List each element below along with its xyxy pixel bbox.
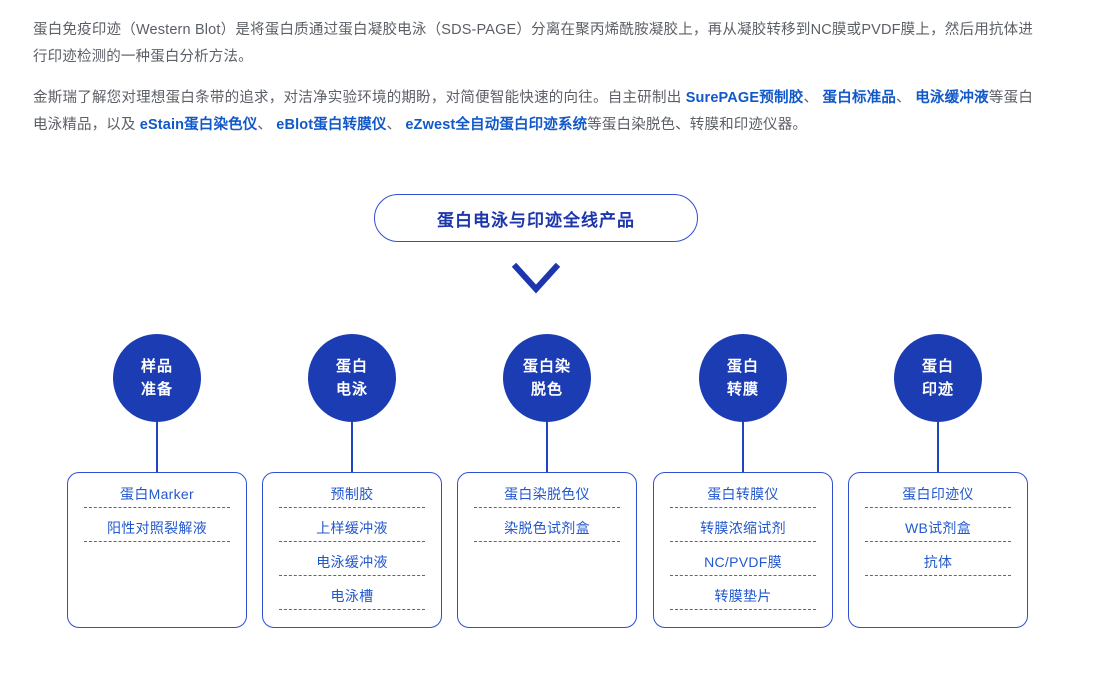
hero-pill-button[interactable]: 蛋白电泳与印迹全线产品 [374,194,698,242]
product-item[interactable]: 蛋白染脱色仪 [474,481,620,508]
stage-product-panel: 蛋白转膜仪转膜浓缩试剂NC/PVDF膜转膜垫片 [653,472,833,628]
chevron-down-icon [512,262,560,294]
product-item[interactable]: 染脱色试剂盒 [474,515,620,542]
intro-text-run: 、 [803,90,822,106]
stage-product-panel: 蛋白Marker阳性对照裂解液 [67,472,247,628]
stage-circle[interactable]: 蛋白电泳 [308,334,396,422]
stage-circle-line1: 蛋白染 [523,355,571,378]
product-item[interactable]: 蛋白印迹仪 [865,481,1011,508]
stage-circle-line2: 印迹 [922,378,954,401]
product-item[interactable]: 预制胶 [279,481,425,508]
product-item[interactable]: 电泳缓冲液 [279,549,425,576]
stage-circle[interactable]: 蛋白染脱色 [503,334,591,422]
product-item[interactable]: 转膜浓缩试剂 [670,515,816,542]
product-item[interactable]: 阳性对照裂解液 [84,515,230,542]
stage-product-panel: 蛋白染脱色仪染脱色试剂盒 [457,472,637,628]
stage-circle-line2: 转膜 [727,378,759,401]
stage-circle-line1: 蛋白 [336,355,368,378]
stage-product-panel: 蛋白印迹仪WB试剂盒抗体 [848,472,1028,628]
product-item[interactable]: 蛋白Marker [84,481,230,508]
product-item[interactable]: 电泳槽 [279,583,425,610]
product-item[interactable]: 抗体 [865,549,1011,576]
stage-circle-line1: 样品 [141,355,173,378]
product-item[interactable]: WB试剂盒 [865,515,1011,542]
intro-paragraph-2: 金斯瑞了解您对理想蛋白条带的追求，对洁净实验环境的期盼，对简便智能快速的向往。自… [33,85,1033,139]
stage-circle-line1: 蛋白 [727,355,759,378]
stage-circle[interactable]: 蛋白转膜 [699,334,787,422]
product-link[interactable]: SurePAGE预制胶 [686,90,804,106]
intro-paragraph-1: 蛋白免疫印迹（Western Blot）是将蛋白质通过蛋白凝胶电泳（SDS-PA… [33,17,1033,71]
product-item[interactable]: NC/PVDF膜 [670,549,816,576]
product-item[interactable]: 转膜垫片 [670,583,816,610]
stage-circle-line2: 准备 [141,378,173,401]
stage-circle[interactable]: 样品准备 [113,334,201,422]
stage-product-panel: 预制胶上样缓冲液电泳缓冲液电泳槽 [262,472,442,628]
stage-circle-line2: 脱色 [531,378,563,401]
intro-text-run: 等蛋白染脱色、转膜和印迹仪器。 [587,117,807,133]
product-item[interactable]: 上样缓冲液 [279,515,425,542]
stage-circle[interactable]: 蛋白印迹 [894,334,982,422]
intro-section: 蛋白免疫印迹（Western Blot）是将蛋白质通过蛋白凝胶电泳（SDS-PA… [33,17,1033,139]
intro-text-run: 金斯瑞了解您对理想蛋白条带的追求，对洁净实验环境的期盼，对简便智能快速的向往。自… [33,90,686,106]
stage-circle-line2: 电泳 [336,378,368,401]
intro-text-run: 、 [896,90,915,106]
product-link[interactable]: eZwest全自动蛋白印迹系统 [405,117,587,133]
product-link[interactable]: eStain蛋白染色仪 [140,117,258,133]
product-item[interactable]: 蛋白转膜仪 [670,481,816,508]
intro-text-run: 、 [257,117,276,133]
product-link[interactable]: eBlot蛋白转膜仪 [276,117,386,133]
intro-text-run: 、 [387,117,406,133]
product-link[interactable]: 电泳缓冲液 [915,90,989,106]
product-link[interactable]: 蛋白标准品 [822,90,896,106]
stage-circle-line1: 蛋白 [922,355,954,378]
product-line-infographic: 蛋白免疫印迹（Western Blot）是将蛋白质通过蛋白凝胶电泳（SDS-PA… [0,0,1100,684]
hero-pill-label: 蛋白电泳与印迹全线产品 [437,206,635,231]
